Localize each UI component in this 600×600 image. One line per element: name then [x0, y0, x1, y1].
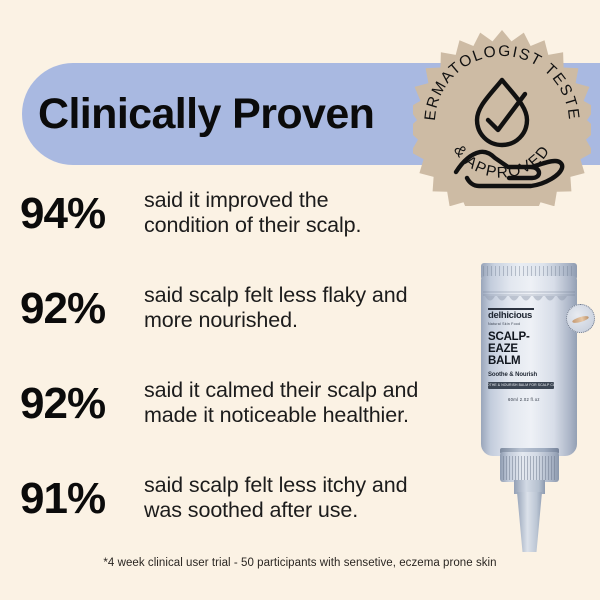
stat-row: 92% said it calmed their scalp and made …: [0, 376, 490, 471]
stat-description: said it improved the condition of their …: [144, 186, 361, 239]
stat-description-line: more nourished.: [144, 308, 408, 333]
poster-canvas: Clinically Proven DERMATOLOGIST TESTED &…: [0, 0, 600, 600]
tube-collar: [500, 452, 559, 482]
page-title: Clinically Proven: [38, 63, 438, 165]
stat-description-line: said it calmed their scalp and: [144, 378, 418, 403]
product-name-line: EAZE: [488, 343, 572, 355]
footnote: *4 week clinical user trial - 50 partici…: [0, 557, 600, 569]
stat-row: 94% said it improved the condition of th…: [0, 186, 490, 281]
stat-row: 92% said scalp felt less flaky and more …: [0, 281, 490, 376]
product-name-line: BALM: [488, 355, 572, 367]
dermatologist-tested-badge: DERMATOLOGIST TESTED & APPROVED: [413, 28, 591, 206]
brand-name: delhicious: [488, 311, 572, 321]
stat-description-line: condition of their scalp.: [144, 213, 361, 238]
stat-percent: 92%: [20, 281, 144, 331]
brand-tagline: Natural Skin Food: [488, 322, 572, 326]
product-name: SCALP- EAZE BALM: [488, 331, 572, 368]
stat-description: said scalp felt less flaky and more nour…: [144, 281, 408, 334]
stat-row: 91% said scalp felt less itchy and was s…: [0, 471, 490, 566]
stat-description: said it calmed their scalp and made it n…: [144, 376, 418, 429]
product-tube-image: delhicious Natural Skin Food SCALP- EAZE…: [474, 258, 600, 483]
stat-percent: 91%: [20, 471, 144, 521]
product-strip-text: SOOTHE & NOURISH BALM FOR SCALP CARE: [488, 383, 554, 387]
tube-neck: [514, 480, 545, 494]
stat-description-line: made it noticeable healthier.: [144, 403, 418, 428]
stat-percent: 92%: [20, 376, 144, 426]
stat-description: said scalp felt less itchy and was sooth…: [144, 471, 408, 524]
product-strip: SOOTHE & NOURISH BALM FOR SCALP CARE: [488, 382, 554, 389]
stat-description-line: said it improved the: [144, 188, 361, 213]
product-name-line: SCALP-: [488, 331, 572, 343]
tube-label: delhicious Natural Skin Food SCALP- EAZE…: [488, 308, 572, 402]
tube-nozzle: [517, 492, 542, 552]
stat-description-line: said scalp felt less itchy and: [144, 473, 408, 498]
statistics-list: 94% said it improved the condition of th…: [0, 186, 490, 566]
stat-percent: 94%: [20, 186, 144, 236]
product-size: 60ml 2.02 fl.oz: [508, 397, 572, 402]
stat-description-line: said scalp felt less flaky and: [144, 283, 408, 308]
product-subtitle: Soothe & Nourish: [488, 372, 572, 378]
tube-lace-pattern: [483, 290, 575, 306]
stat-description-line: was soothed after use.: [144, 498, 408, 523]
